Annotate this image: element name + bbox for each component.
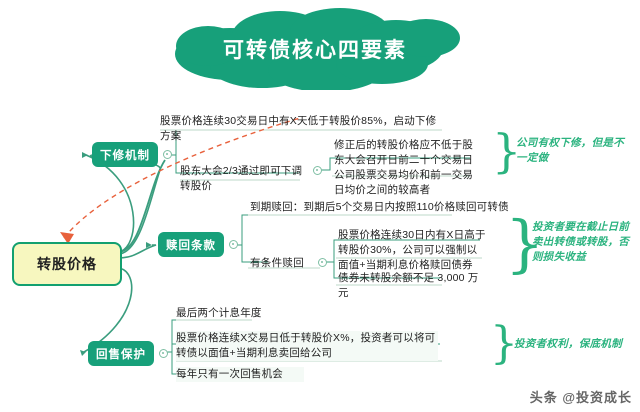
leaf-huishou-trigger[interactable]: 股票价格连续X交易日低于转股价X%，投资者可以将可转债以面值+当期利息卖回给公司: [176, 331, 438, 361]
leaf-huishou-frequency[interactable]: 每年只有一次回售机会: [176, 367, 304, 382]
branch-label-huishou: 回售保护: [96, 346, 146, 362]
collapse-dot-xiaxiu-vote[interactable]: [313, 166, 322, 175]
branch-node-shuhui[interactable]: 赎回条款: [158, 232, 224, 257]
branch-label-xiaxiu: 下修机制: [100, 147, 150, 163]
collapse-dot-shuhui[interactable]: [229, 240, 238, 249]
leaf-shuhui-forced[interactable]: 股票价格连续30日内有X日高于转股价30%，公司可以强制以面值+当期利息价格赎回…: [338, 228, 486, 273]
subbranch-label-conditional-redemption[interactable]: 有条件赎回: [250, 255, 304, 270]
annotation-shuhui: 投资者要在截止日前卖出转债或转股，否则损失收益: [532, 220, 632, 265]
mindmap-canvas: 可转债核心四要素 转股价格 下修机制 股票价格连续30交易日中有X天低于转股价8…: [0, 0, 640, 412]
title-cloud: 可转债核心四要素: [150, 8, 480, 90]
root-node[interactable]: 转股价格: [12, 242, 122, 286]
leaf-xiaxiu-vote[interactable]: 股东大会2/3通过即可下调转股价: [180, 164, 305, 194]
branch-node-xiaxiu[interactable]: 下修机制: [92, 142, 158, 167]
leaf-xiaxiu-floor-price[interactable]: 修正后的转股价格应不低于股东大会召开日前二十个交易日公司股票交易均价和前一交易日…: [334, 138, 474, 198]
branch-label-shuhui: 赎回条款: [166, 237, 216, 253]
page-title: 可转债核心四要素: [150, 8, 480, 90]
branch-node-huishou[interactable]: 回售保护: [88, 341, 154, 366]
collapse-dot-huishou[interactable]: [159, 349, 168, 358]
root-node-label: 转股价格: [37, 254, 97, 274]
collapse-dot-xiaxiu[interactable]: [163, 150, 172, 159]
leaf-huishou-period[interactable]: 最后两个计息年度: [176, 306, 296, 321]
watermark: 头条 @投资成长: [530, 387, 632, 406]
annotation-huishou: 投资者权利，保底机制: [514, 337, 634, 352]
annotation-xiaxiu: 公司有权下修，但是不一定做: [516, 136, 634, 166]
collapse-dot-conditional-redemption[interactable]: [318, 258, 327, 267]
leaf-shuhui-maturity[interactable]: 到期赎回：到期后5个交易日内按照110价格赎回可转债: [250, 200, 520, 215]
leaf-shuhui-balance[interactable]: 债券未转股余额不足 3,000 万元: [338, 271, 488, 301]
